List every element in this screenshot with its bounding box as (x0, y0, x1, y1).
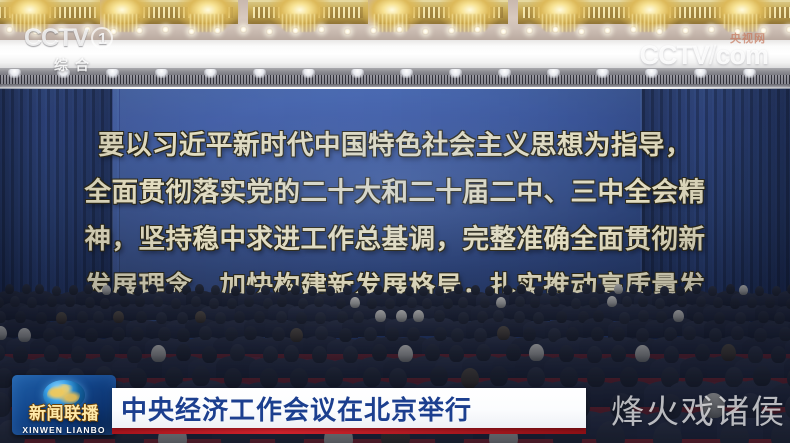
attendee-head (735, 312, 746, 324)
attendee-head (786, 298, 790, 309)
attendee-head (224, 368, 242, 388)
attendee-head (610, 393, 633, 418)
attendee-head (15, 311, 26, 323)
attendee-head (550, 296, 560, 307)
attendee-head (664, 346, 679, 363)
attendee-head (643, 286, 652, 296)
ceiling-light (578, 28, 585, 35)
attendee-head (726, 284, 735, 294)
attendee-head (527, 367, 545, 387)
attendee-head (721, 344, 736, 361)
attendee-head (620, 367, 638, 387)
attendee-head (560, 367, 578, 387)
attendee-head (497, 326, 510, 340)
attendee-head (659, 394, 682, 419)
ceiling-downlight (204, 69, 217, 78)
ceiling-downlight (645, 69, 658, 78)
attendee-head (36, 312, 47, 324)
ceiling-downlight (694, 69, 707, 78)
ceiling-light (318, 26, 325, 33)
attendee-head (754, 328, 767, 342)
attendee-head-grey-hair (18, 328, 31, 342)
attendee-head (153, 296, 163, 307)
attendee-head (696, 296, 706, 307)
attendee-head (596, 284, 605, 294)
ceiling-downlight (596, 69, 609, 78)
attendee-head (708, 286, 717, 296)
attendee-head (35, 284, 44, 294)
attendee-head (774, 312, 785, 324)
channel-bug-network: CCTV1 (24, 26, 136, 51)
ceiling-light (214, 27, 221, 34)
attendee-head (158, 327, 171, 341)
attendee-head (559, 345, 574, 362)
channel-bug-name: 综合 (54, 55, 136, 75)
attendee-head (435, 286, 444, 296)
ceiling-light (240, 26, 247, 33)
attendee-head-grey-hair (496, 297, 506, 308)
attendee-head-grey-hair (398, 345, 413, 362)
ceiling-downlight (155, 69, 168, 78)
attendee-head (385, 298, 395, 309)
attendee-head (325, 367, 343, 387)
attendee-head-grey-hair (614, 284, 623, 294)
attendee-head (176, 344, 191, 361)
attendee-head (290, 328, 303, 342)
ceiling-downlight (400, 69, 413, 78)
attendee-head (202, 346, 217, 363)
attendee-head (407, 327, 420, 341)
attendee-head (458, 297, 468, 308)
watermark-domain: CCTV/com (639, 42, 768, 69)
ceiling-light (526, 27, 533, 34)
attendee-head (388, 286, 397, 296)
attendee-head (611, 345, 626, 362)
ceiling-light (188, 28, 195, 35)
channel-bug-number: 1 (91, 27, 113, 49)
chandelier-icon (360, 0, 424, 32)
attendee-head (314, 296, 324, 307)
attendee-head (771, 346, 786, 363)
attendee-head-grey-hair (151, 345, 166, 362)
ceiling-light (448, 27, 455, 34)
attendee-head (135, 296, 145, 307)
attendee-head (277, 296, 287, 307)
attendee-head (720, 421, 749, 443)
attendee-head (100, 345, 115, 362)
ceiling-downlight (547, 69, 560, 78)
attendee-head (284, 345, 299, 362)
chandelier-icon (176, 0, 240, 32)
attendee-head (693, 312, 704, 324)
attendee-head (211, 285, 220, 295)
attendee-head (85, 328, 98, 342)
attendee-head (62, 326, 75, 340)
attendee-head (747, 297, 757, 308)
attendee-head (118, 286, 127, 296)
attendee-head (434, 310, 445, 322)
attendee-head (765, 297, 775, 308)
attendee-head (490, 366, 508, 386)
attendee-head (230, 344, 245, 361)
headline-text: 中央经济工作会议在北京举行 (112, 390, 472, 427)
attendee-head (291, 285, 300, 295)
attendee-head (593, 310, 604, 322)
attendee-head-grey-hair (350, 297, 360, 308)
attendee-head (422, 298, 432, 309)
attendee-head (156, 312, 167, 324)
attendee-head (587, 367, 605, 387)
attendee-head (254, 311, 265, 323)
attendee-head (653, 422, 682, 443)
attendee-head (753, 366, 771, 386)
attendee-head (171, 298, 181, 309)
attendee-head (407, 297, 417, 308)
ceiling-downlight (302, 69, 315, 78)
attendee-head-grey-hair (635, 345, 650, 362)
ceiling-downlight (253, 69, 266, 78)
attendee-head (556, 311, 567, 323)
attendee-head (713, 297, 723, 308)
attendee-head (596, 421, 625, 443)
chandelier-icon (618, 0, 682, 32)
attendee-head (471, 285, 480, 295)
attendee-head (523, 327, 536, 341)
attendee-head (195, 311, 206, 323)
ceiling-downlight (743, 69, 756, 78)
attendee-head (449, 345, 464, 362)
attendee-head (612, 327, 625, 341)
attendee-head (148, 284, 157, 294)
channel-bug: CCTV1 综合 (24, 26, 136, 78)
attendee-head (638, 296, 648, 307)
attendee-head (476, 344, 491, 361)
ceiling-light (786, 26, 790, 33)
attendee-head (419, 286, 428, 296)
broadcast-frame: 要以习近平新时代中国特色社会主义思想为指导， 全面贯彻落实党的二十大和二十届二中… (0, 0, 790, 443)
attendee-head (261, 285, 270, 295)
program-logo-title-pinyin: XINWEN LIANBO (12, 425, 116, 435)
attendee-head (234, 311, 245, 323)
ceiling-light (552, 26, 559, 33)
attendee-head (260, 368, 278, 388)
attendee-head (244, 326, 257, 340)
attendee-head (493, 310, 504, 322)
ceiling-light (136, 27, 143, 34)
attendee-head (199, 326, 212, 340)
attendee-head (343, 285, 352, 295)
attendee-head (215, 312, 226, 324)
attendee-head (758, 311, 769, 323)
ceiling-light (6, 26, 13, 33)
attendee-head (389, 368, 407, 388)
ceiling-downlight (351, 69, 364, 78)
attendee-head (84, 284, 93, 294)
attendee-head (113, 311, 124, 323)
attendee-head (131, 327, 144, 341)
attendee-head (566, 327, 579, 341)
attendee-head (136, 311, 147, 323)
attendee-head (779, 327, 790, 341)
ceiling-light (162, 26, 169, 33)
attendee-head (27, 297, 37, 308)
attendee-head (326, 286, 335, 296)
attendee-head (93, 311, 104, 323)
attendee-head (386, 327, 399, 341)
attendee-head (100, 298, 110, 309)
attendee-head (530, 297, 540, 308)
attendee-head (276, 311, 287, 323)
ceiling-downlight (449, 69, 462, 78)
attendee-head (739, 393, 762, 418)
attendee-head-grey-hair (702, 393, 725, 418)
ceiling-light (292, 27, 299, 34)
ceiling-light (604, 27, 611, 34)
watermark-domain-tld: com (715, 40, 768, 70)
attendee-head (683, 326, 696, 340)
attendee-head (714, 312, 725, 324)
attendee-head (195, 284, 204, 294)
attendee-head (533, 312, 544, 324)
attendee-head (290, 368, 308, 388)
attendee-head (13, 346, 28, 363)
attendee-head (636, 328, 649, 342)
attendee-head (339, 328, 352, 342)
watermark-domain-main: CCTV (639, 40, 709, 70)
attendee-head (514, 311, 525, 323)
attendee-head (296, 312, 307, 324)
attendee-head (191, 296, 201, 307)
attendee-head (10, 296, 20, 307)
attendee-head (771, 420, 790, 443)
program-logo-title-cn: 新闻联播 (12, 406, 116, 423)
attendee-head (638, 310, 649, 322)
attendee-head (564, 285, 573, 295)
ceiling-light (500, 28, 507, 35)
attendee-head-grey-hair (673, 310, 684, 322)
attendee-head (231, 286, 240, 296)
attendee-head (454, 284, 463, 294)
chandelier-icon (438, 0, 502, 32)
attendee-head (430, 366, 448, 386)
headline-accent-strip (112, 428, 586, 434)
attendee-head-grey-hair (375, 310, 386, 322)
attendee-head (451, 328, 464, 342)
headline-banner: 中央经济工作会议在北京举行 (112, 388, 586, 428)
attendee-head (129, 368, 147, 388)
attendee-head-grey-hair (413, 310, 424, 322)
attendee-head (343, 346, 358, 363)
attendee-head (755, 286, 764, 296)
attendee-head (244, 296, 254, 307)
attendee-head (209, 298, 219, 309)
attendee-head (425, 344, 440, 361)
attendee-head (353, 311, 364, 323)
attendee-head (367, 298, 377, 309)
attendee-head (485, 286, 494, 296)
program-logo-xinwen-lianbo: 新闻联播 XINWEN LIANBO (12, 375, 116, 435)
attendee-head (44, 345, 59, 362)
attendee-head (685, 367, 703, 387)
ceiling-light (422, 28, 429, 35)
network-watermark: 央视网 CCTV/com (639, 30, 768, 69)
attendee-head (731, 326, 744, 340)
ceiling-light (266, 28, 273, 35)
ceiling-downlight (8, 69, 21, 78)
attendee-head (695, 344, 710, 361)
attendee-head (358, 286, 367, 296)
ceiling-light (474, 26, 481, 33)
attendee-head (571, 298, 581, 309)
attendee-head-grey-hair (102, 285, 111, 295)
attendee-head (677, 296, 687, 307)
channel-bug-network-label: CCTV (24, 24, 88, 52)
ceiling-light (370, 27, 377, 34)
attendee-head (372, 344, 387, 361)
attendee-head (692, 284, 701, 294)
ceiling-light (630, 26, 637, 33)
ceiling-light (344, 28, 351, 35)
ceiling-downlight (498, 69, 511, 78)
attendee-head (312, 346, 327, 363)
attendee-head (47, 296, 57, 307)
attendee-head (192, 366, 210, 386)
attendee-head-grey-hair (529, 344, 544, 361)
attendee-head (315, 312, 326, 324)
attendee-head (71, 346, 86, 363)
attendee-head (308, 286, 317, 296)
ceiling-light (396, 26, 403, 33)
attendee-head (517, 284, 526, 294)
attendee-head (5, 284, 14, 294)
attendee-head (315, 326, 328, 340)
